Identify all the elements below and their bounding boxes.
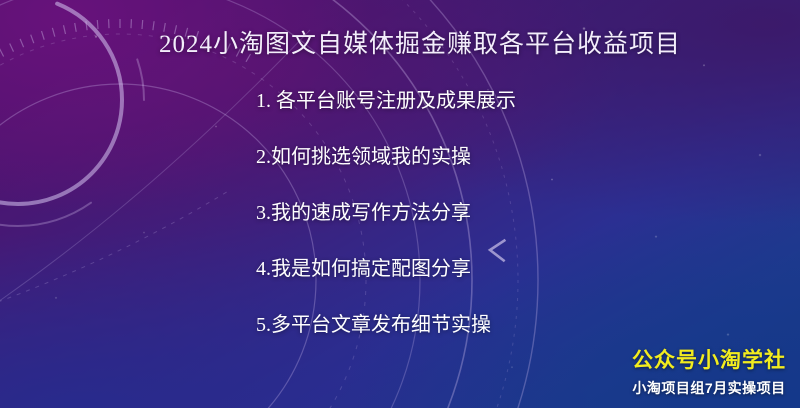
list-item: 3.我的速成写作方法分享	[256, 196, 516, 225]
page-title: 2024小淘图文自媒体掘金赚取各平台收益项目	[0, 24, 800, 60]
brand-subtitle: 小淘项目组7月实操项目	[632, 378, 786, 398]
brand-block: 公众号小淘学社 小淘项目组7月实操项目	[632, 344, 786, 398]
list-item: 4.我是如何搞定配图分享	[256, 252, 516, 281]
slide-canvas: 170180190200210220230240250260 2024小淘图文自…	[0, 0, 800, 408]
list-item: 2.如何挑选领域我的实操	[256, 140, 516, 169]
list-item: 5.多平台文章发布细节实操	[256, 308, 516, 337]
brand-name: 公众号小淘学社	[632, 344, 786, 374]
slide-content: 2024小淘图文自媒体掘金赚取各平台收益项目 1. 各平台账号注册及成果展示 2…	[0, 0, 800, 408]
agenda-list: 1. 各平台账号注册及成果展示 2.如何挑选领域我的实操 3.我的速成写作方法分…	[256, 84, 516, 364]
list-item: 1. 各平台账号注册及成果展示	[256, 84, 516, 113]
